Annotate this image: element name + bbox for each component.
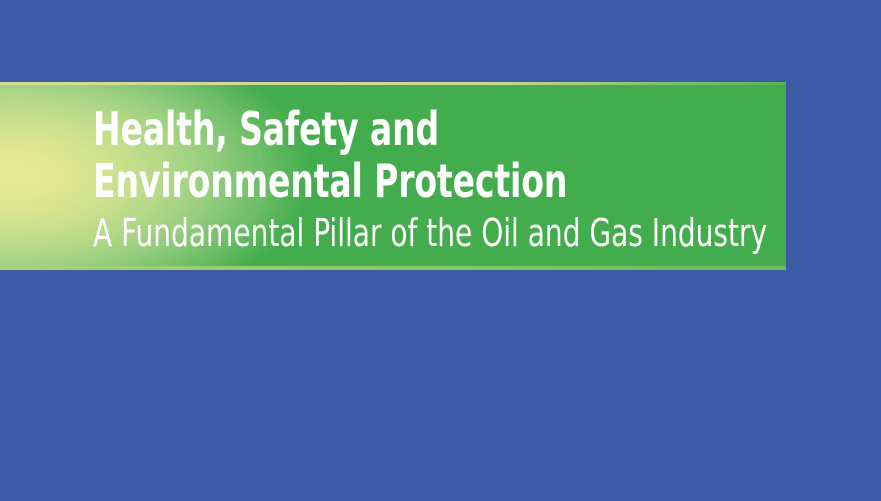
- slide-header-area: [0, 0, 881, 82]
- title-banner: Health, Safety and Environmental Protect…: [0, 82, 786, 270]
- presentation-slide: Health, Safety and Environmental Protect…: [0, 0, 881, 501]
- slide-subtitle: A Fundamental Pillar of the Oil and Gas …: [93, 214, 767, 252]
- slide-content-area: [0, 270, 881, 501]
- slide-title-line-1: Health, Safety and: [93, 106, 439, 152]
- slide-title-line-2: Environmental Protection: [93, 158, 567, 204]
- banner-text-block: Health, Safety and Environmental Protect…: [93, 82, 783, 270]
- banner-right-margin: [786, 82, 881, 270]
